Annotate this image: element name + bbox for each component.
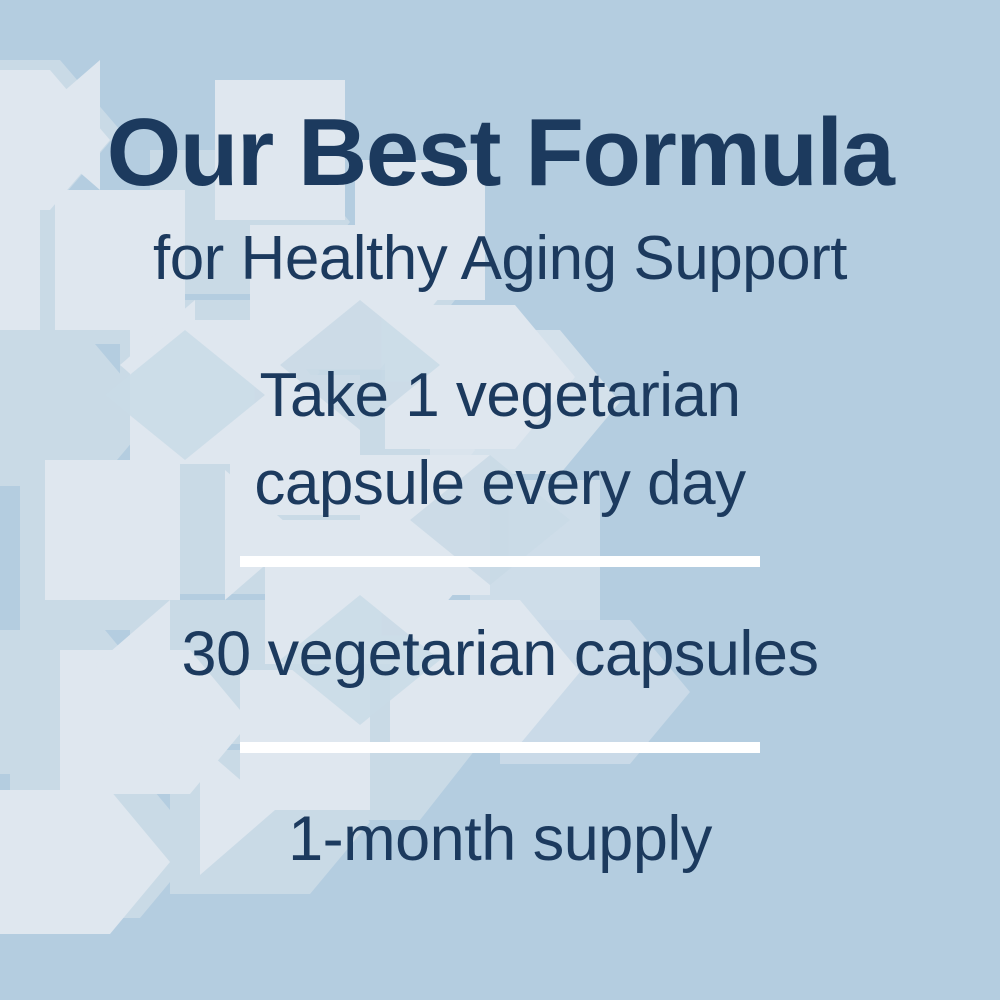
divider-rule-bottom bbox=[240, 742, 760, 753]
divider-rule-top bbox=[240, 556, 760, 567]
page-subtitle: for Healthy Aging Support bbox=[0, 228, 1000, 290]
capsule-count: 30 vegetarian capsules bbox=[0, 623, 1000, 686]
dosage-line-2: capsule every day bbox=[0, 440, 1000, 528]
page-title: Our Best Formula bbox=[0, 105, 1000, 201]
dosage-instructions: Take 1 vegetarian capsule every day bbox=[0, 352, 1000, 528]
content-stack: Our Best Formula for Healthy Aging Suppo… bbox=[0, 0, 1000, 1000]
product-info-panel: Our Best Formula for Healthy Aging Suppo… bbox=[0, 0, 1000, 1000]
supply-duration: 1-month supply bbox=[0, 808, 1000, 871]
dosage-line-1: Take 1 vegetarian bbox=[0, 352, 1000, 440]
